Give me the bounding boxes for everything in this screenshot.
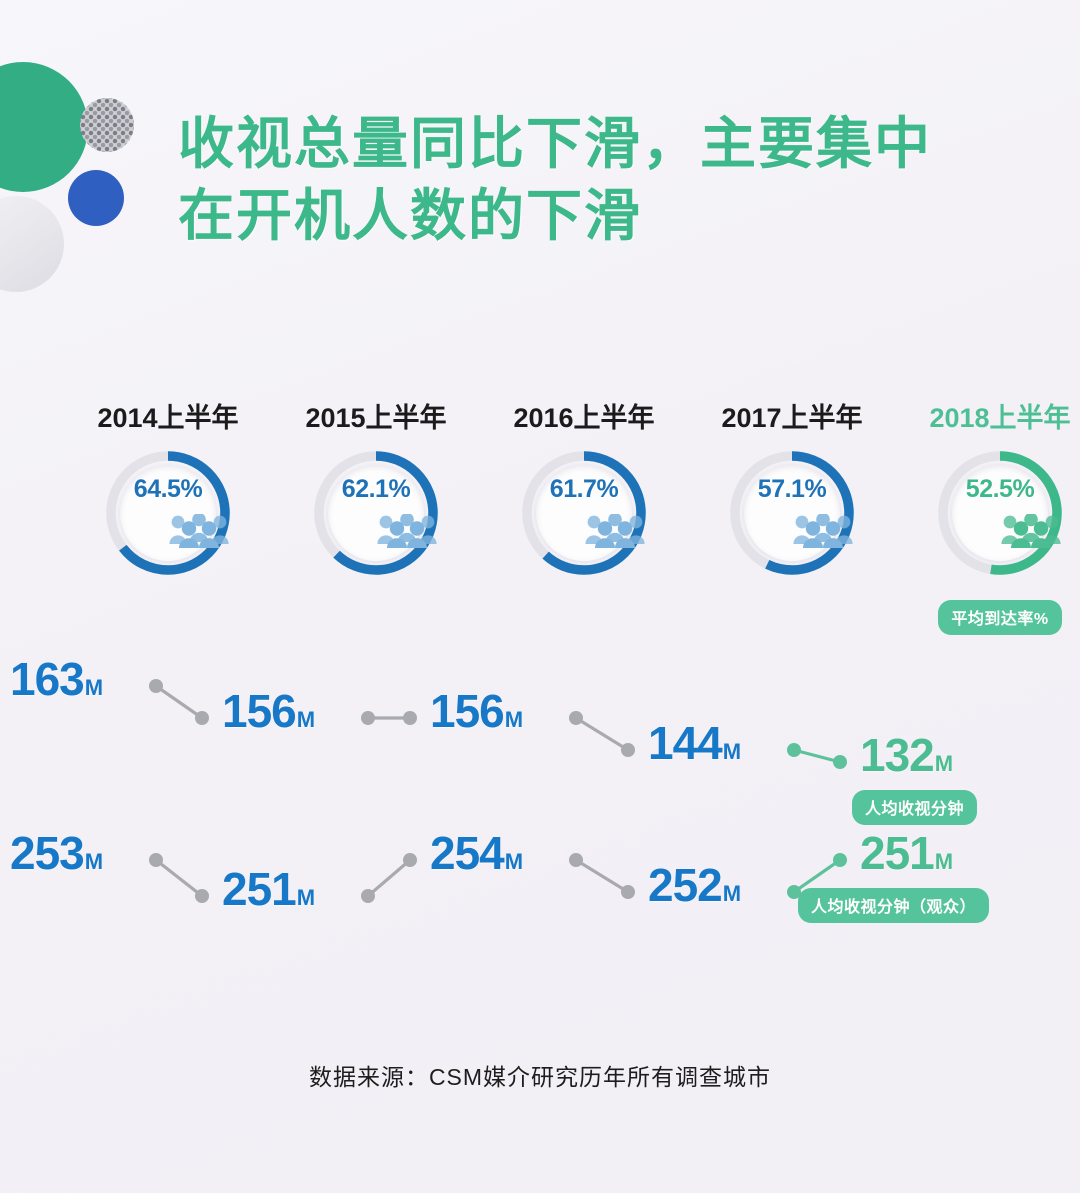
- connector-dot: [149, 679, 163, 693]
- metric-unit: M: [297, 707, 315, 732]
- connector-dot: [149, 853, 163, 867]
- year-label-1: 2015上半年: [268, 396, 484, 435]
- donut-percentage-label: 57.1%: [727, 475, 857, 504]
- donut-gauge: 64.5%: [103, 448, 233, 578]
- donut-percentage-label: 52.5%: [935, 475, 1065, 504]
- metric-unit: M: [505, 849, 523, 874]
- metric-value-0-1: 156M: [222, 684, 315, 738]
- connector-dot: [569, 853, 583, 867]
- donut-gauge: 62.1%: [311, 448, 441, 578]
- reach-rate-donut-1: 62.1%: [268, 448, 484, 638]
- metric-unit: M: [85, 849, 103, 874]
- connector-line: [794, 750, 840, 762]
- connector-dot: [787, 743, 801, 757]
- reach-rate-donut-4: 52.5%平均到达率%: [892, 448, 1080, 638]
- infographic-canvas: 收视总量同比下滑，主要集中 在开机人数的下滑 2014上半年2015上半年201…: [0, 0, 1080, 1193]
- decorative-green-circle: [0, 62, 88, 192]
- metric-number: 254: [430, 827, 504, 879]
- reach-rate-donut-row: 64.5%62.1%61.7%57.1%52.5%平均到达率%: [0, 448, 1080, 638]
- metric-number: 251: [222, 863, 296, 915]
- metric-row-caption-1: 人均收视分钟（观众）: [798, 888, 989, 923]
- metric-value-1-2: 254M: [430, 826, 523, 880]
- donut-percentage-label: 62.1%: [311, 475, 441, 504]
- metric-value-1-1: 251M: [222, 862, 315, 916]
- page-title-line-2: 在开机人数的下滑: [178, 180, 998, 252]
- people-group-icon: [168, 514, 230, 548]
- metric-value-0-4: 132M: [860, 728, 953, 782]
- donut-percentage-label: 61.7%: [519, 475, 649, 504]
- page-title-line-1: 收视总量同比下滑，主要集中: [178, 108, 998, 180]
- metric-unit: M: [297, 885, 315, 910]
- connector-line: [576, 860, 628, 892]
- connector-dot: [621, 743, 635, 757]
- data-source-note: 数据来源：CSM媒介研究历年所有调查城市: [0, 1058, 1080, 1092]
- reach-rate-donut-0: 64.5%: [60, 448, 276, 638]
- connector-dot: [361, 889, 375, 903]
- connector-dot: [195, 711, 209, 725]
- metric-number: 144: [648, 717, 722, 769]
- donut-caption: 平均到达率%: [892, 600, 1080, 635]
- metric-unit: M: [85, 675, 103, 700]
- metric-number: 156: [430, 685, 504, 737]
- connector-dot: [195, 889, 209, 903]
- connector-dot: [833, 853, 847, 867]
- decorative-dotted-circle: [80, 98, 134, 152]
- people-group-icon: [1000, 514, 1062, 548]
- year-label-3: 2017上半年: [684, 396, 900, 435]
- metric-pill-label: 人均收视分钟（观众）: [798, 888, 989, 923]
- decorative-gray-circle: [0, 196, 64, 292]
- donut-gauge: 52.5%: [935, 448, 1065, 578]
- people-group-icon: [792, 514, 854, 548]
- metric-number: 156: [222, 685, 296, 737]
- metric-number: 253: [10, 827, 84, 879]
- connector-line: [156, 860, 202, 896]
- reach-rate-donut-3: 57.1%: [684, 448, 900, 638]
- reach-rate-donut-2: 61.7%: [476, 448, 692, 638]
- metric-row-per-viewer-minutes: 253M251M254M252M251M人均收视分钟（观众）: [0, 818, 1080, 968]
- metric-value-0-2: 156M: [430, 684, 523, 738]
- page-title: 收视总量同比下滑，主要集中 在开机人数的下滑: [178, 108, 998, 251]
- year-label-0: 2014上半年: [60, 396, 276, 435]
- year-label-2: 2016上半年: [476, 396, 692, 435]
- connector-dot: [569, 711, 583, 725]
- year-label-row: 2014上半年2015上半年2016上半年2017上半年2018上半年: [0, 396, 1080, 436]
- metric-value-1-3: 252M: [648, 858, 741, 912]
- donut-percentage-label: 64.5%: [103, 475, 233, 504]
- connector-dot: [361, 711, 375, 725]
- metric-value-1-4: 251M: [860, 826, 953, 880]
- donut-gauge: 61.7%: [519, 448, 649, 578]
- metric-value-1-0: 253M: [10, 826, 103, 880]
- metric-unit: M: [935, 751, 953, 776]
- connector-dot: [403, 853, 417, 867]
- connector-dot: [403, 711, 417, 725]
- metric-number: 163: [10, 653, 84, 705]
- metric-unit: M: [723, 739, 741, 764]
- decorative-blue-circle: [68, 170, 124, 226]
- metric-row-per-capita-minutes: 163M156M156M144M132M人均收视分钟: [0, 640, 1080, 790]
- people-group-icon: [376, 514, 438, 548]
- connector-line: [156, 686, 202, 718]
- metric-number: 251: [860, 827, 934, 879]
- people-group-icon: [584, 514, 646, 548]
- connector-dot: [621, 885, 635, 899]
- metric-number: 132: [860, 729, 934, 781]
- metric-number: 252: [648, 859, 722, 911]
- metric-unit: M: [935, 849, 953, 874]
- connector-line: [576, 718, 628, 750]
- metric-unit: M: [723, 881, 741, 906]
- metric-value-0-0: 163M: [10, 652, 103, 706]
- connector-line: [368, 860, 410, 896]
- connector-dot: [833, 755, 847, 769]
- metric-unit: M: [505, 707, 523, 732]
- donut-gauge: 57.1%: [727, 448, 857, 578]
- year-label-4: 2018上半年: [892, 396, 1080, 435]
- metric-value-0-3: 144M: [648, 716, 741, 770]
- reach-rate-pill-label: 平均到达率%: [938, 600, 1061, 635]
